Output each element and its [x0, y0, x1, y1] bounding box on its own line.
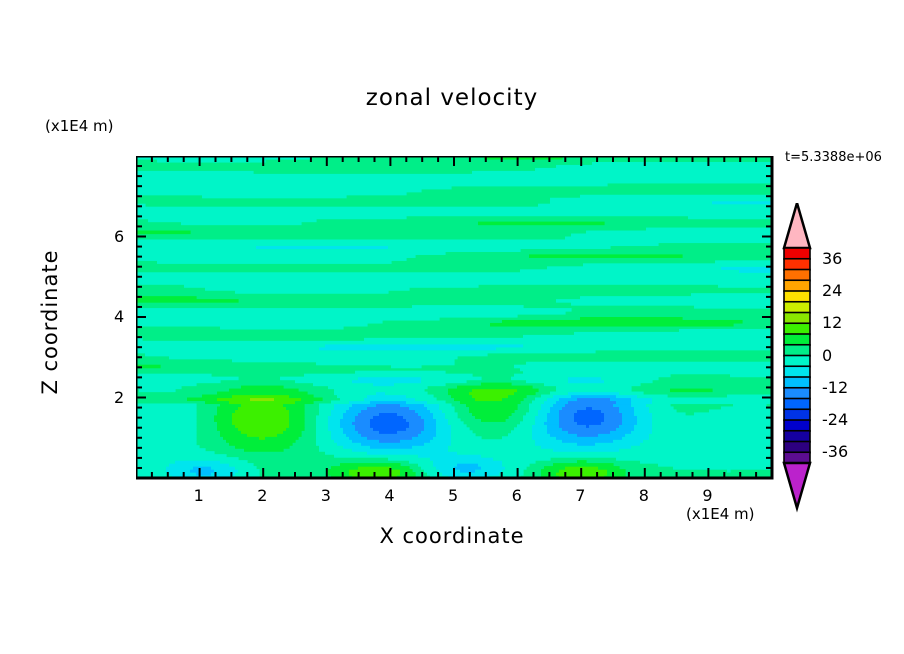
colorbar-segment [784, 248, 810, 259]
colorbar-segment [784, 420, 810, 431]
x-tick-label: 5 [448, 486, 458, 505]
colorbar-tick-label: -36 [822, 442, 848, 461]
x-tick-label: 4 [384, 486, 394, 505]
y-axis-title: Z coordinate [38, 212, 62, 432]
colorbar-segment [784, 388, 810, 399]
y-tick-label: 6 [114, 227, 124, 246]
y-tick-label: 4 [114, 307, 124, 326]
colorbar-tick-label: -12 [822, 378, 848, 397]
colorbar-segment [784, 259, 810, 270]
colorbar-tick-label: 24 [822, 281, 842, 300]
colorbar-tick-label: -24 [822, 410, 848, 429]
x-tick-label: 9 [702, 486, 712, 505]
colorbar-over-arrow [784, 203, 810, 248]
colorbar-segment [784, 323, 810, 334]
colorbar-segment [784, 452, 810, 463]
contour-plot-area [136, 156, 774, 480]
colorbar-segment [784, 291, 810, 302]
x-tick-label: 7 [575, 486, 585, 505]
colorbar-tick-label: 12 [822, 313, 842, 332]
colorbar-segment [784, 431, 810, 442]
colorbar-segment [784, 270, 810, 281]
y-tick-label: 2 [114, 388, 124, 407]
colorbar-segment [784, 409, 810, 420]
x-tick-label: 8 [639, 486, 649, 505]
colorbar-segment [784, 302, 810, 313]
y-axis-unit-label: (x1E4 m) [45, 117, 114, 135]
colorbar-segment [784, 399, 810, 410]
colorbar-segment [784, 442, 810, 453]
colorbar [780, 203, 814, 515]
x-tick-label: 3 [321, 486, 331, 505]
x-tick-label: 6 [512, 486, 522, 505]
colorbar-segment [784, 366, 810, 377]
colorbar-segment [784, 345, 810, 356]
x-tick-label: 2 [257, 486, 267, 505]
colorbar-tick-label: 36 [822, 249, 842, 268]
chart-title: zonal velocity [0, 85, 904, 111]
timestamp-annotation: t=5.3388e+06 [785, 150, 882, 165]
x-axis-unit-label: (x1E4 m) [686, 505, 755, 523]
colorbar-segment [784, 334, 810, 345]
colorbar-segment [784, 313, 810, 324]
x-axis-title: X coordinate [0, 524, 904, 548]
colorbar-tick-label: 0 [822, 346, 832, 365]
x-tick-label: 1 [194, 486, 204, 505]
colorbar-under-arrow [784, 463, 810, 508]
colorbar-segment [784, 377, 810, 388]
colorbar-segment [784, 356, 810, 367]
colorbar-segment [784, 280, 810, 291]
